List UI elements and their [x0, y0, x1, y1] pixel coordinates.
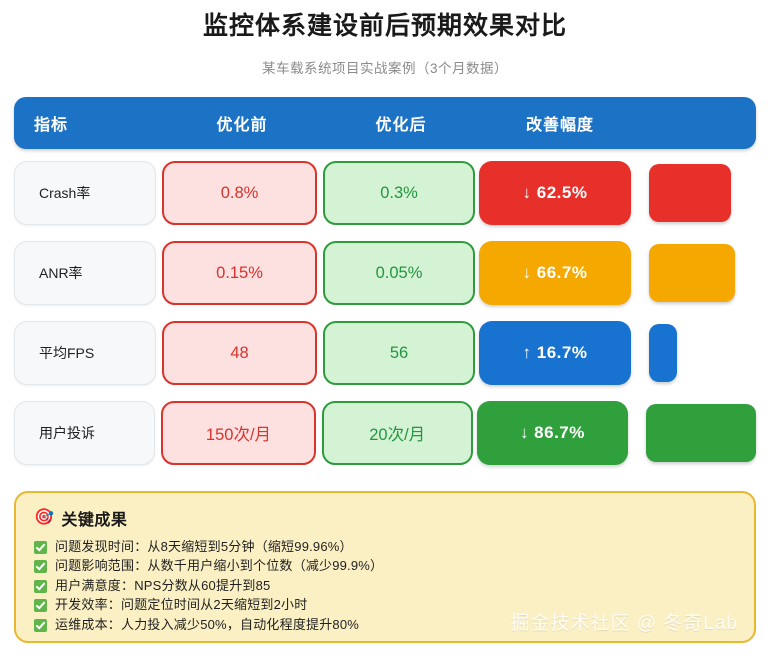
- bar-track: [628, 401, 756, 465]
- improvement-bar: [646, 404, 756, 462]
- cell-metric: ANR率: [14, 241, 156, 305]
- page-subtitle: 某车载系统项目实战案例（3个月数据）: [0, 57, 770, 77]
- table-body: Crash率0.8%0.3%↓ 62.5%ANR率0.15%0.05%↓ 66.…: [14, 157, 756, 469]
- key-result-item: 问题发现时间：从8天缩短到5分钟（缩短99.96%）: [34, 538, 736, 556]
- cell-after-value: 20次/月: [322, 401, 473, 465]
- key-results-title: 关键成果: [61, 506, 127, 530]
- cell-metric: 用户投诉: [14, 401, 155, 465]
- bar-track: [631, 321, 756, 385]
- table-row: Crash率0.8%0.3%↓ 62.5%: [14, 157, 756, 229]
- key-result-text: 运维成本：人力投入减少50%，自动化程度提升80%: [55, 616, 359, 634]
- cell-improvement-badge: ↓ 86.7%: [477, 401, 628, 465]
- comparison-table: 指标 优化前 优化后 改善幅度 Crash率0.8%0.3%↓ 62.5%ANR…: [14, 97, 756, 469]
- column-header-metric: 指标: [14, 111, 162, 135]
- check-icon: [34, 599, 47, 612]
- bar-track: [631, 161, 756, 225]
- bar-track: [631, 241, 756, 305]
- cell-after-value: 0.05%: [323, 241, 475, 305]
- cell-after-value: 0.3%: [323, 161, 475, 225]
- cell-improvement-badge: ↑ 16.7%: [479, 321, 631, 385]
- watermark: 掘金技术社区 @ 冬奇Lab: [510, 608, 738, 635]
- page-header: 监控体系建设前后预期效果对比 某车载系统项目实战案例（3个月数据）: [0, 0, 770, 77]
- table-row: 用户投诉150次/月20次/月↓ 86.7%: [14, 397, 756, 469]
- key-result-text: 问题影响范围：从数千用户缩小到个位数（减少99.9%）: [55, 557, 383, 575]
- improvement-bar: [649, 324, 677, 382]
- cell-before-value: 150次/月: [161, 401, 315, 465]
- check-icon: [34, 580, 47, 593]
- check-icon: [34, 619, 47, 632]
- improvement-bar: [649, 244, 735, 302]
- cell-after-value: 56: [323, 321, 475, 385]
- table-header-row: 指标 优化前 优化后 改善幅度: [14, 97, 756, 149]
- key-result-item: 用户满意度：NPS分数从60提升到85: [34, 577, 736, 595]
- cell-improvement-badge: ↓ 62.5%: [479, 161, 631, 225]
- cell-before-value: 0.8%: [162, 161, 317, 225]
- table-row: 平均FPS4856↑ 16.7%: [14, 317, 756, 389]
- key-results-panel: 🎯 关键成果 问题发现时间：从8天缩短到5分钟（缩短99.96%）问题影响范围：…: [14, 491, 756, 643]
- cell-before-value: 48: [162, 321, 317, 385]
- column-header-before: 优化前: [162, 111, 322, 135]
- cell-metric: Crash率: [14, 161, 156, 225]
- key-result-item: 问题影响范围：从数千用户缩小到个位数（减少99.9%）: [34, 557, 736, 575]
- improvement-bar: [649, 164, 731, 222]
- key-result-text: 开发效率：问题定位时间从2天缩短到2小时: [55, 596, 307, 614]
- cell-before-value: 0.15%: [162, 241, 317, 305]
- key-result-text: 用户满意度：NPS分数从60提升到85: [55, 577, 270, 595]
- key-result-text: 问题发现时间：从8天缩短到5分钟（缩短99.96%）: [55, 538, 353, 556]
- column-header-after: 优化后: [322, 111, 480, 135]
- cell-metric: 平均FPS: [14, 321, 156, 385]
- cell-improvement-badge: ↓ 66.7%: [479, 241, 631, 305]
- column-header-improvement: 改善幅度: [480, 111, 640, 135]
- target-icon: 🎯: [34, 510, 54, 526]
- table-row: ANR率0.15%0.05%↓ 66.7%: [14, 237, 756, 309]
- check-icon: [34, 560, 47, 573]
- page-title: 监控体系建设前后预期效果对比: [0, 11, 770, 41]
- key-results-title-row: 🎯 关键成果: [34, 506, 736, 530]
- check-icon: [34, 541, 47, 554]
